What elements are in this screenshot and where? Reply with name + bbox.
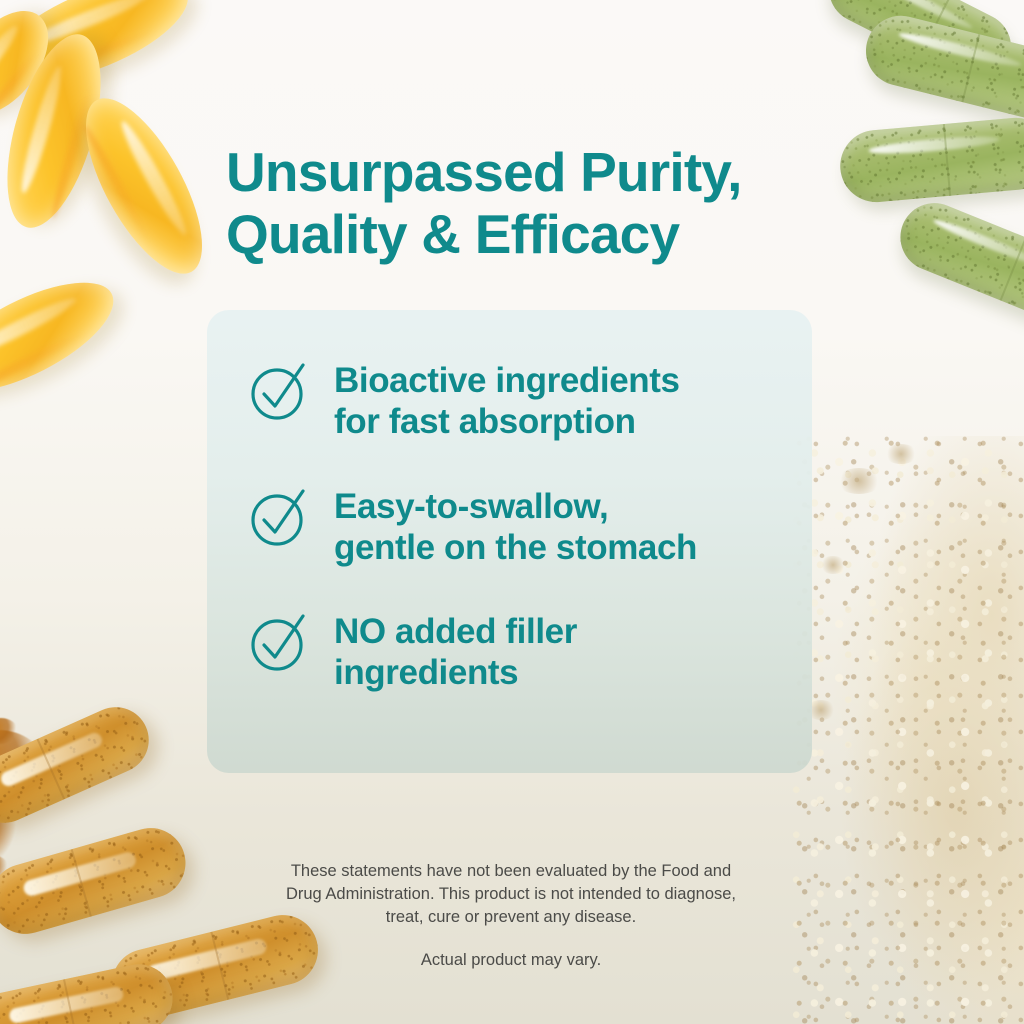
check-circle-icon [248, 360, 310, 422]
check-circle-icon [248, 486, 310, 548]
amber-capsule [0, 697, 159, 834]
powder-dust [836, 468, 882, 494]
list-item: Bioactive ingredients for fast absorptio… [248, 358, 788, 443]
powder-dust [820, 556, 846, 574]
amber-capsule [0, 958, 179, 1024]
amber-capsule [0, 820, 194, 942]
fda-disclaimer: These statements have not been evaluated… [222, 860, 800, 930]
list-item: Easy-to-swallow, gentle on the stomach [248, 484, 788, 569]
softgel-capsule [0, 261, 128, 413]
green-capsule [837, 115, 1024, 205]
green-capsule [890, 193, 1024, 327]
list-item-label: NO added filler ingredients [334, 609, 577, 694]
powder-dust [884, 444, 918, 464]
promo-image: Unsurpassed Purity, Quality & Efficacy B… [0, 0, 1024, 1024]
list-item-label: Easy-to-swallow, gentle on the stomach [334, 484, 697, 569]
softgel-capsule [63, 82, 224, 290]
green-herbal-capsules-photo [812, 0, 1024, 324]
actual-product-note: Actual product may vary. [222, 949, 800, 972]
check-circle-icon [248, 611, 310, 673]
list-item: NO added filler ingredients [248, 609, 788, 694]
protein-powder-mound-photo [790, 436, 1024, 1024]
benefits-card: Bioactive ingredients for fast absorptio… [207, 310, 812, 773]
benefits-list: Bioactive ingredients for fast absorptio… [248, 358, 788, 694]
page-title: Unsurpassed Purity, Quality & Efficacy [226, 141, 826, 265]
list-item-label: Bioactive ingredients for fast absorptio… [334, 358, 680, 443]
